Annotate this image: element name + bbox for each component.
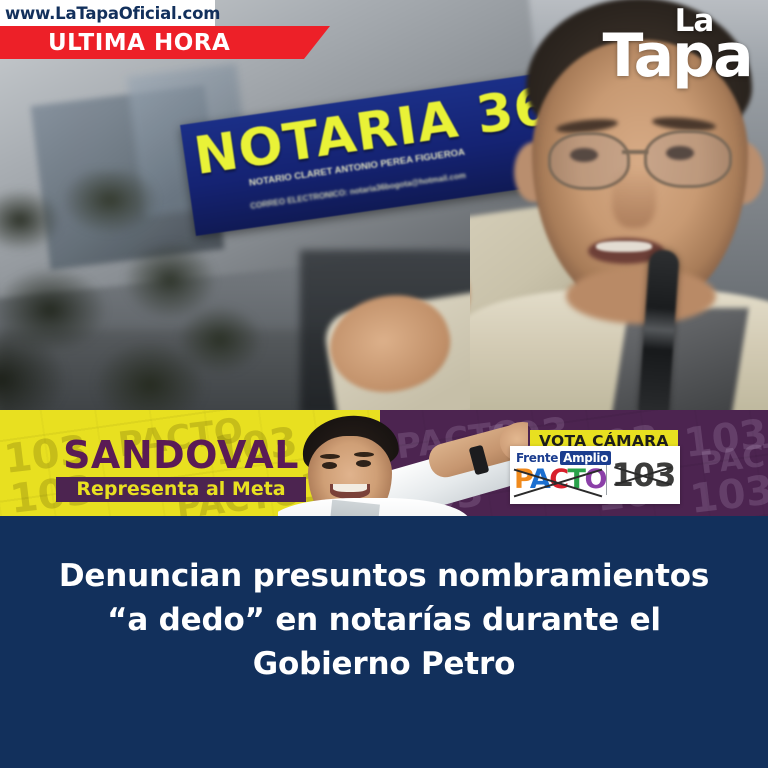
headline-title: Denuncian presuntos nombramientos “a ded… xyxy=(54,554,714,686)
ballot-number: 103 xyxy=(612,456,676,494)
site-url-text: www.LaTapaOficial.com xyxy=(0,4,220,23)
breaking-news-label: ULTIMA HORA xyxy=(0,30,230,56)
party-logo-left: Frente Amplio PACTO xyxy=(510,446,606,504)
news-poster: NOTARIA 36 NOTARIO CLARET ANTONIO PEREA … xyxy=(0,0,768,768)
amplio-label: Amplio xyxy=(560,451,611,465)
party-logo-box: Frente Amplio PACTO 103 xyxy=(510,446,680,504)
speaker-glasses-bridge xyxy=(622,150,648,154)
candidate-teeth xyxy=(333,484,367,492)
candidate-eyebrow-right xyxy=(354,452,374,457)
party-logo-right: 103 xyxy=(607,446,680,504)
pacto-wordmark: PACTO xyxy=(514,466,606,493)
brand-logo-line2: Tapa xyxy=(602,30,752,82)
candidate-eyebrow-left xyxy=(320,454,340,459)
speaker-chin xyxy=(566,268,716,324)
breaking-news-bar: ULTIMA HORA xyxy=(0,26,330,59)
speaker-nose xyxy=(612,168,656,228)
frente-label: Frente xyxy=(516,451,558,465)
candidate-photo xyxy=(278,410,528,516)
headline-section: Denuncian presuntos nombramientos “a ded… xyxy=(0,516,768,768)
candidate-name: SANDOVAL xyxy=(56,436,306,474)
brand-logo: La Tapa xyxy=(602,6,752,92)
candidate-eye-right xyxy=(356,460,371,467)
candidate-tagline: Representa al Meta xyxy=(56,477,306,502)
candidate-eye-left xyxy=(322,462,337,469)
photo-foliage xyxy=(0,170,290,412)
speaker-glasses-right-lens xyxy=(644,130,732,188)
candidate-name-block: SANDOVAL Representa al Meta xyxy=(56,436,306,502)
speaker-teeth xyxy=(596,241,652,252)
site-url-bar: www.LaTapaOficial.com xyxy=(0,0,215,26)
frente-amplio-chip: Frente Amplio xyxy=(516,451,611,465)
